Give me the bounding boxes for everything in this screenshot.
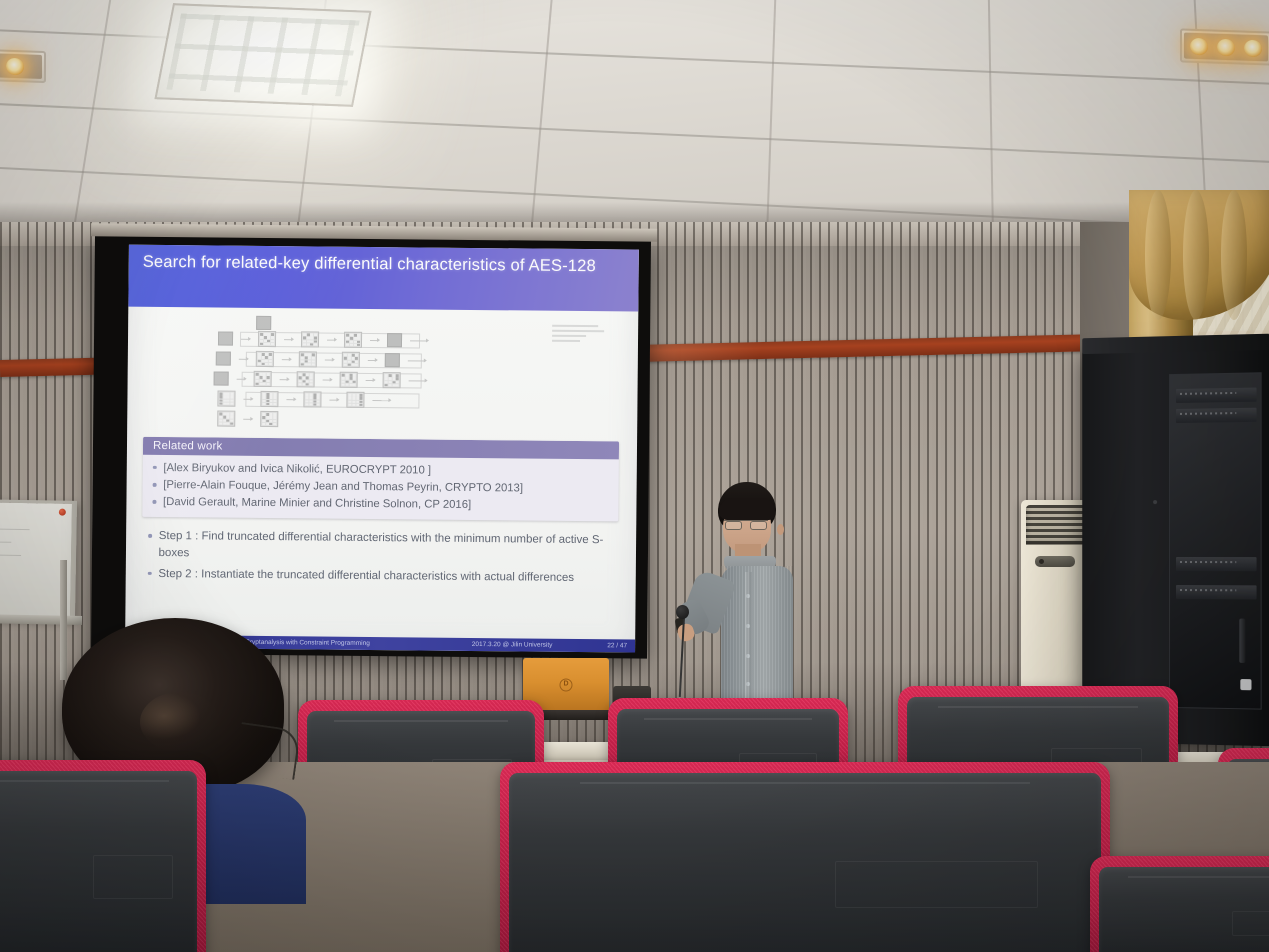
step-text: Step 2 : Instantiate the truncated diffe…: [158, 566, 574, 587]
footer-event: 2017.3.20 @ Jilin University: [437, 641, 587, 649]
spotlight-cluster-left: [0, 49, 46, 83]
related-work-ref: [Pierre-Alain Fouque, Jérémy Jean and Th…: [163, 477, 523, 497]
list-item: Step 2 : Instantiate the truncated diffe…: [148, 564, 614, 589]
step-list: Step 1 : Find truncated differential cha…: [136, 517, 627, 591]
chair: [1090, 856, 1269, 952]
slide-body: Related work [Alex Biryukov and Ivica Ni…: [126, 315, 639, 592]
related-work-ref: [David Gerault, Marine Minier and Christ…: [163, 494, 471, 513]
presenter: [690, 482, 810, 712]
microphone: [672, 605, 698, 697]
list-item: [David Gerault, Marine Minier and Christ…: [152, 494, 608, 516]
ac-status-led: [1039, 559, 1044, 564]
spotlight-bulb: [6, 57, 24, 75]
related-work-card: Related work [Alex Biryukov and Ivica Ni…: [142, 437, 619, 522]
ceiling: [0, 0, 1269, 242]
glasses-icon: [724, 520, 768, 529]
presentation-slide: Search for related-key differential char…: [125, 245, 639, 653]
related-work-list: [Alex Biryukov and Ivica Nikolić, EUROCR…: [142, 455, 619, 522]
bullet-icon: [153, 465, 157, 469]
spotlight-cluster-right: [1180, 28, 1269, 65]
list-item: Step 1 : Find truncated differential cha…: [148, 526, 614, 568]
slide-title: Search for related-key differential char…: [128, 245, 639, 312]
related-work-ref: [Alex Biryukov and Ivica Nikolić, EUROCR…: [163, 460, 431, 479]
bullet-icon: [152, 500, 156, 504]
magnet-icon: [59, 509, 66, 516]
diagram-legend: [552, 325, 624, 346]
aes-key-schedule-diagram: [137, 315, 628, 438]
footer-page-number: 22 / 47: [587, 642, 627, 649]
spotlight-bulb: [1244, 39, 1262, 57]
projection-screen: Search for related-key differential char…: [91, 235, 651, 658]
microphone-head: [676, 605, 689, 619]
glasses-icon: [235, 722, 301, 780]
step-text: Step 1 : Find truncated differential cha…: [158, 528, 614, 567]
chair: [0, 760, 206, 952]
rack-glass-door[interactable]: [1169, 372, 1262, 709]
chair: [500, 762, 1110, 952]
spotlight-bulb: [1217, 38, 1235, 56]
bullet-icon: [148, 534, 152, 538]
rack-door-handle[interactable]: [1239, 619, 1245, 663]
rack-lock-icon[interactable]: [1240, 679, 1251, 690]
lecture-hall-photo: Search for related-key differential char…: [0, 0, 1269, 952]
bullet-icon: [148, 572, 152, 576]
bullet-icon: [153, 483, 157, 487]
dell-logo-icon: D: [560, 679, 573, 692]
fluorescent-panel-light: [154, 3, 371, 107]
